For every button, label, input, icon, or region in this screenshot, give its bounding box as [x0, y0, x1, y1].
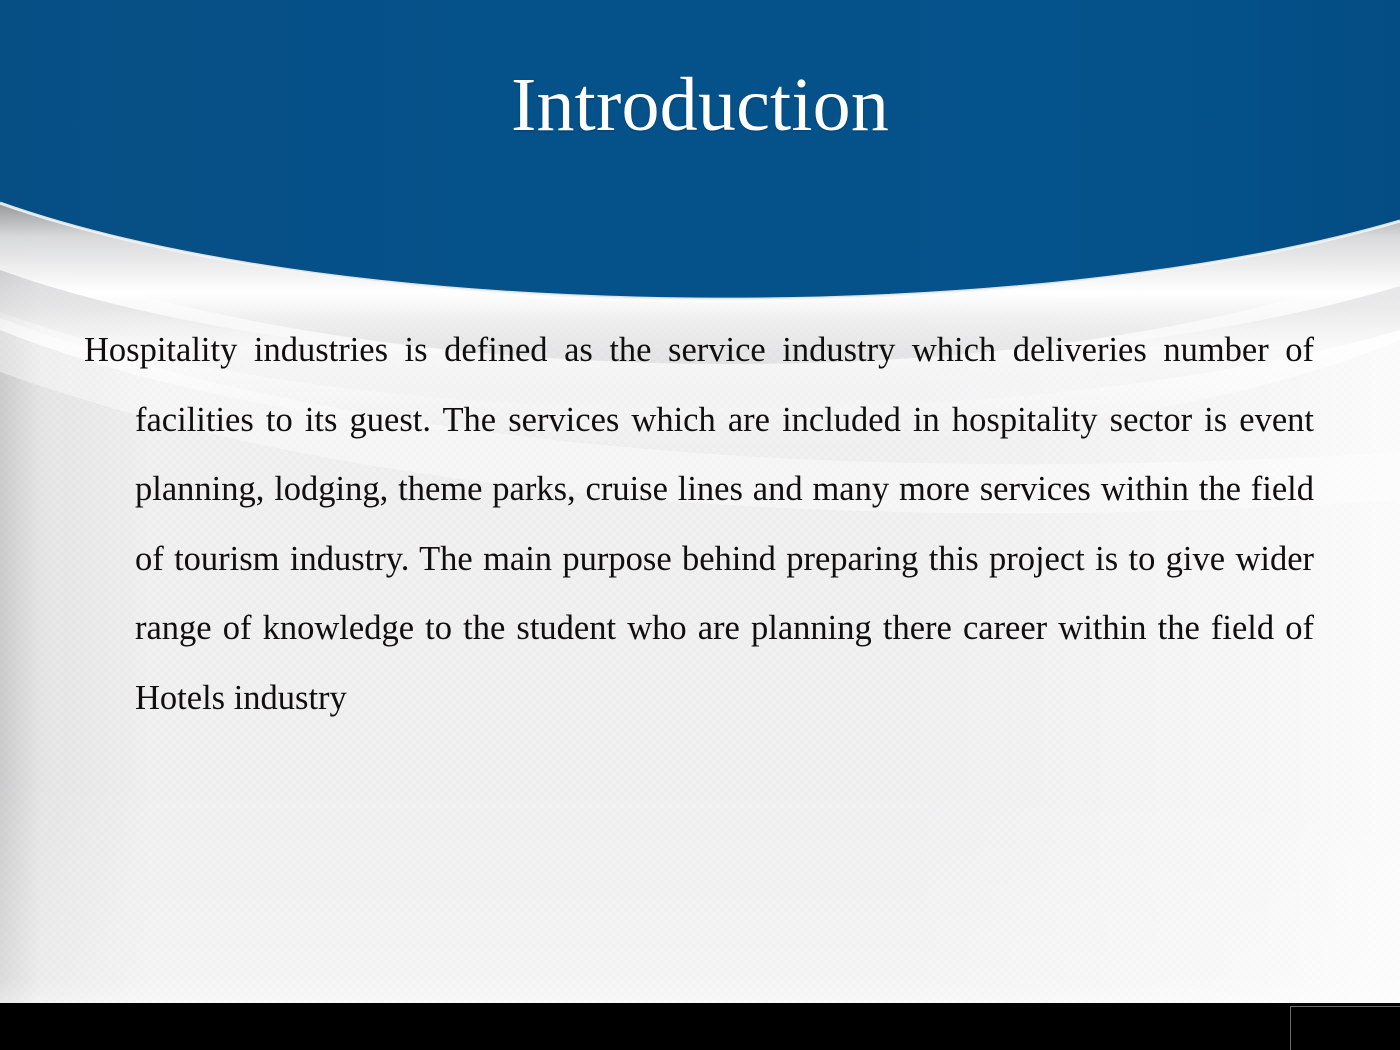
bottom-right-frame — [1290, 1006, 1400, 1050]
body-paragraph: Hospitality industries is defined as the… — [84, 316, 1314, 733]
title-container: Introduction — [0, 0, 1400, 210]
page-title: Introduction — [511, 67, 889, 143]
slide-content-area: Introduction Hospitality industries is d… — [0, 0, 1400, 1003]
presentation-slide: Introduction Hospitality industries is d… — [0, 0, 1400, 1050]
bottom-bar — [0, 1003, 1400, 1050]
body-text-container: Hospitality industries is defined as the… — [84, 316, 1314, 733]
